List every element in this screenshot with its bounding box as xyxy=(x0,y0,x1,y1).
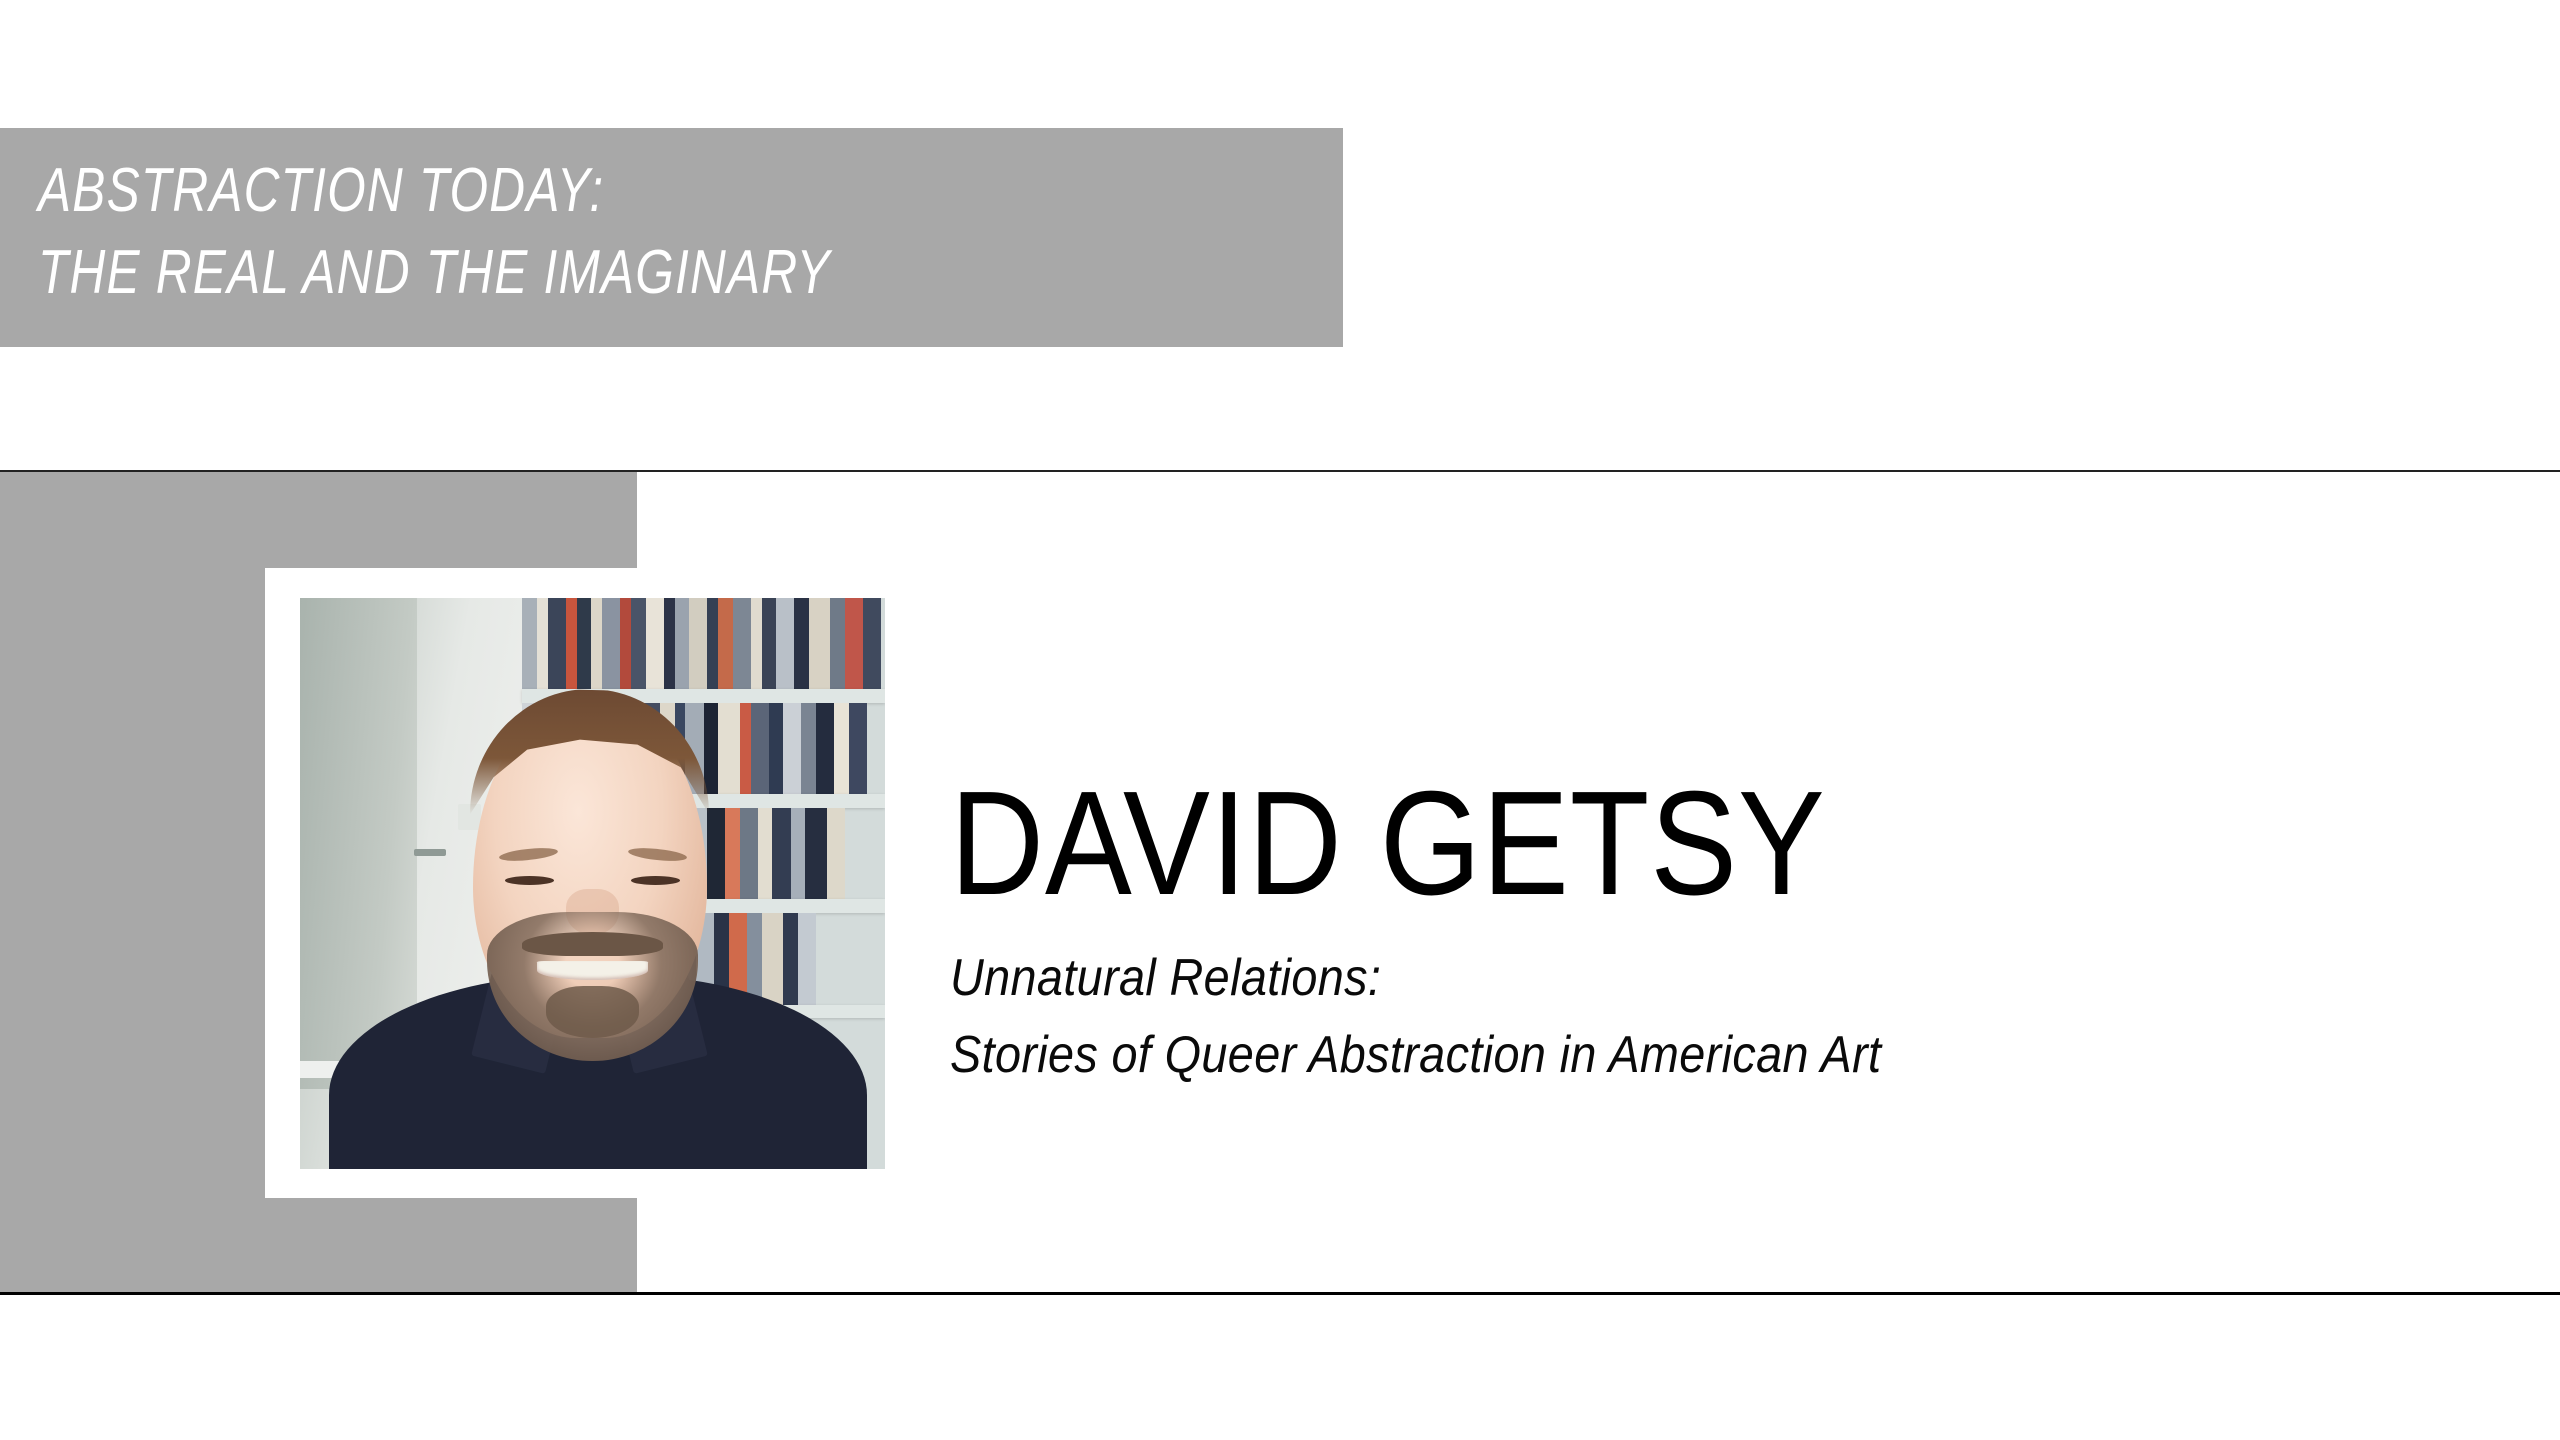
photo-door-handle xyxy=(414,849,446,855)
photo-smile xyxy=(537,961,648,980)
speaker-text-block: DAVID GETSY Unnatural Relations: Stories… xyxy=(950,770,1985,1094)
event-title-banner: ABSTRACTION TODAY: THE REAL AND THE IMAG… xyxy=(0,128,1343,347)
event-title-line-1: ABSTRACTION TODAY: xyxy=(38,150,1082,232)
speaker-section: DAVID GETSY Unnatural Relations: Stories… xyxy=(0,470,2560,1294)
speaker-photo-frame xyxy=(265,568,919,1198)
event-title-line-2: THE REAL AND THE IMAGINARY xyxy=(38,232,1082,314)
photo-book-row xyxy=(522,598,885,689)
photo-light-switch xyxy=(458,804,481,830)
speaker-portrait-photo xyxy=(300,598,885,1169)
talk-title-line-2: Stories of Queer Abstraction in American… xyxy=(950,1017,1881,1094)
photo-eye-right xyxy=(631,876,681,885)
talk-title-line-1: Unnatural Relations: xyxy=(950,940,1881,1017)
photo-mustache xyxy=(522,932,662,956)
photo-eye-left xyxy=(505,876,555,885)
section-divider-bottom xyxy=(0,1292,2560,1295)
photo-chin-beard xyxy=(546,986,640,1037)
speaker-name: DAVID GETSY xyxy=(950,770,1861,918)
